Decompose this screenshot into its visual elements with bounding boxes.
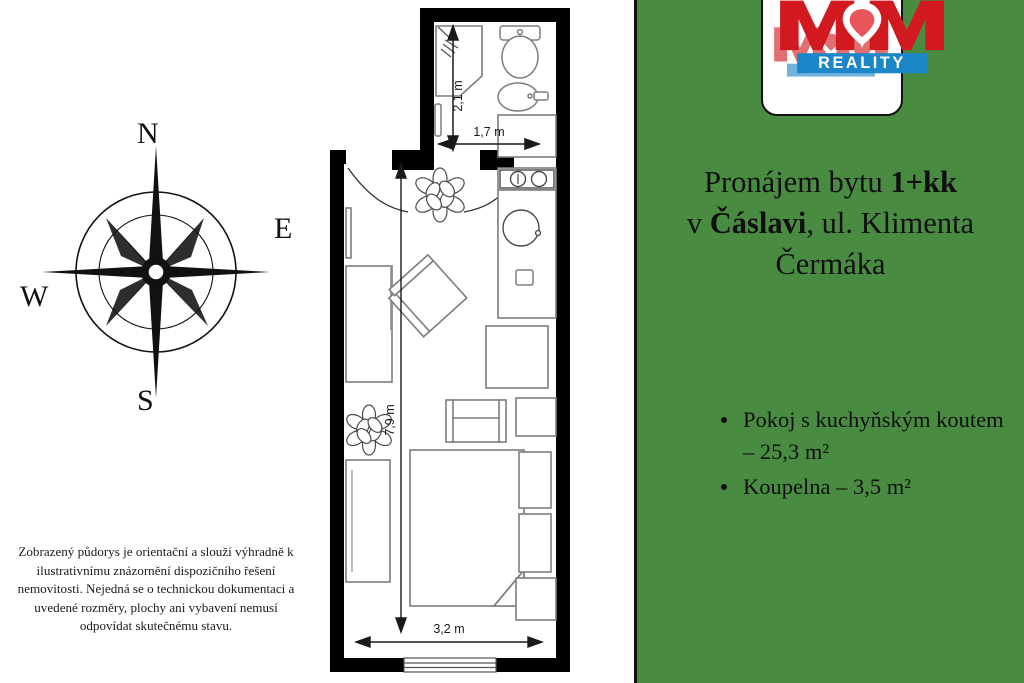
kitchen-appliance-icon bbox=[516, 270, 533, 285]
dimension-label-bathroom-depth: 2,1 m bbox=[451, 80, 465, 111]
logo-main-copy: REALITY bbox=[777, 0, 947, 81]
list-item: Pokoj s kuchyňským koutem – 25,3 m² bbox=[721, 404, 1019, 468]
headline-city: Čáslavi bbox=[710, 206, 807, 240]
compass-label-north: N bbox=[137, 117, 159, 150]
window-icon bbox=[404, 658, 496, 672]
dimension-label-bathroom-width: 1,7 m bbox=[473, 125, 504, 139]
sideboard-icon bbox=[346, 460, 390, 582]
compass-label-east: E bbox=[274, 212, 292, 245]
headline-line-2-prefix: v bbox=[687, 206, 710, 240]
bed-icon bbox=[410, 450, 524, 606]
radiator-left-upper bbox=[346, 208, 351, 258]
toilet-icon bbox=[500, 26, 540, 78]
compass-rose: N E S W bbox=[18, 110, 294, 420]
page-title: Pronájem bytu 1+kk v Čáslavi, ul. Klimen… bbox=[647, 162, 1014, 285]
compass-label-west: W bbox=[20, 280, 49, 313]
floor-plan-drawing: 2,1 m 1,7 m bbox=[312, 0, 637, 683]
nightstand-icon-lower bbox=[516, 578, 556, 620]
svg-text:REALITY: REALITY bbox=[818, 54, 906, 72]
shelf-icon-lower bbox=[519, 514, 551, 572]
nightstand-icon-upper bbox=[516, 398, 556, 436]
headline-line-1-prefix: Pronájem bytu bbox=[704, 165, 890, 199]
feature-list: Pokoj s kuchyňským koutem – 25,3 m² Koup… bbox=[699, 404, 1019, 506]
logo-card: REALITY REALITY bbox=[761, 0, 903, 116]
dimension-label-room-width: 3,2 m bbox=[433, 622, 464, 636]
chair-icon bbox=[446, 400, 506, 442]
table-icon bbox=[486, 326, 548, 388]
headline-line-2-suffix: , ul. Klimenta bbox=[806, 206, 974, 240]
cooktop-icon bbox=[500, 170, 554, 188]
flyer-page: N E S W Zobrazený půdorys je orientační … bbox=[0, 0, 1024, 683]
washing-machine-icon bbox=[498, 115, 556, 157]
floor-plan: 2,1 m 1,7 m bbox=[312, 0, 637, 683]
headline-line-3: Čermáka bbox=[775, 247, 885, 281]
info-panel: REALITY REALITY bbox=[637, 0, 1024, 683]
brand-logo: REALITY REALITY bbox=[763, 0, 905, 118]
dimension-label-room-length: 7,9 m bbox=[383, 404, 397, 435]
radiator-bathroom bbox=[435, 104, 441, 136]
left-column: N E S W Zobrazený půdorys je orientační … bbox=[0, 0, 312, 683]
headline-layout-badge: 1+kk bbox=[890, 165, 957, 199]
list-item: Koupelna – 3,5 m² bbox=[721, 471, 1019, 503]
compass-label-south: S bbox=[137, 384, 154, 417]
wardrobe-icon bbox=[346, 266, 392, 382]
shelf-icon-upper bbox=[519, 452, 551, 508]
disclaimer-text: Zobrazený půdorys je orientační a slouží… bbox=[8, 543, 304, 636]
kitchen-sink-icon bbox=[503, 210, 540, 246]
